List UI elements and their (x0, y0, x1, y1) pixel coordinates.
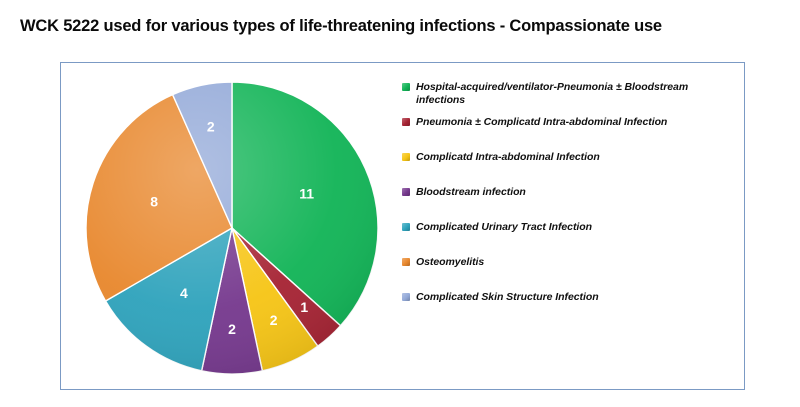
pie-slice-value-label: 8 (150, 193, 158, 209)
legend-item[interactable]: Pneumonia ± Complicatd Intra-abdominal I… (402, 116, 732, 129)
pie-slice-value-label: 2 (270, 312, 278, 328)
legend-item-label: Complicatd Intra-abdominal Infection (416, 151, 732, 164)
legend-item[interactable]: Complicated Skin Structure Infection (402, 291, 732, 304)
legend-item[interactable]: Osteomyelitis (402, 256, 732, 269)
page-title: WCK 5222 used for various types of life-… (20, 17, 790, 36)
legend-item-label: Hospital-acquired/ventilator-Pneumonia ±… (416, 81, 732, 106)
legend-item-label: Bloodstream infection (416, 186, 732, 199)
pie-chart-svg: 11122482 (61, 63, 461, 391)
legend-color-swatch (402, 118, 410, 126)
pie-slice-value-label: 2 (228, 321, 236, 337)
legend-item-label: Complicated Urinary Tract Infection (416, 221, 732, 234)
legend-color-swatch (402, 83, 410, 91)
pie-slice-value-label: 2 (207, 119, 215, 135)
legend-item-label: Complicated Skin Structure Infection (416, 291, 732, 304)
pie-slice-value-label: 11 (299, 185, 314, 201)
legend-item[interactable]: Bloodstream infection (402, 186, 732, 199)
legend-item[interactable]: Hospital-acquired/ventilator-Pneumonia ±… (402, 81, 732, 106)
legend-color-swatch (402, 223, 410, 231)
legend-item-label: Osteomyelitis (416, 256, 732, 269)
pie-slice-value-label: 1 (300, 299, 308, 315)
chart-frame: 11122482 Hospital-acquired/ventilator-Pn… (60, 62, 745, 390)
legend-color-swatch (402, 153, 410, 161)
legend-item[interactable]: Complicated Urinary Tract Infection (402, 221, 732, 234)
pie-chart: 11122482 (61, 63, 461, 391)
pie-slice-value-label: 4 (180, 285, 188, 301)
legend-color-swatch (402, 188, 410, 196)
legend-color-swatch (402, 258, 410, 266)
chart-legend: Hospital-acquired/ventilator-Pneumonia ±… (402, 81, 732, 315)
legend-item-label: Pneumonia ± Complicatd Intra-abdominal I… (416, 116, 732, 129)
legend-color-swatch (402, 293, 410, 301)
legend-item[interactable]: Complicatd Intra-abdominal Infection (402, 151, 732, 164)
